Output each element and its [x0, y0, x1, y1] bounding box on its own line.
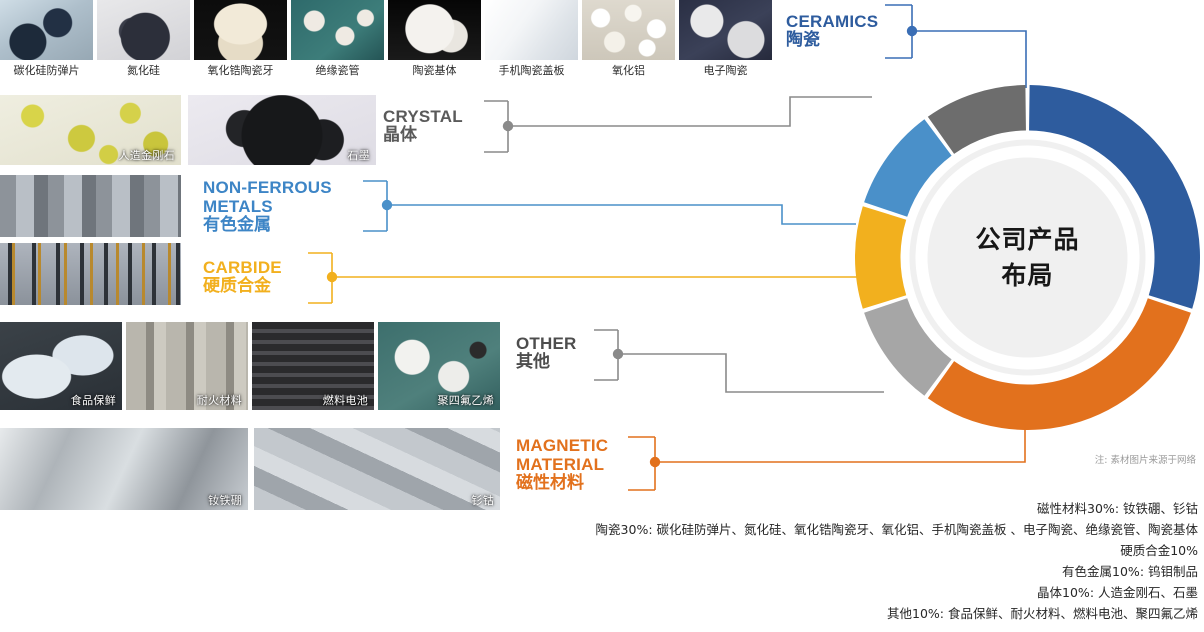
category-label-crystal[interactable]: CRYSTAL 晶体: [383, 107, 463, 145]
tile-caption: 聚四氟乙烯: [438, 394, 495, 407]
tile-caption: 陶瓷基体: [388, 64, 481, 78]
category-cn-other: 其他: [516, 353, 577, 372]
tile-caption: 人造金刚石: [119, 149, 176, 162]
tile-image: 燃料电池: [252, 322, 374, 410]
tile-caption: 石墨: [347, 149, 370, 162]
tile-image: [485, 0, 578, 60]
tile-caption: 氮化硅: [97, 64, 190, 78]
legend-line: 磁性材料30%: 钕铁硼、钐钴: [8, 498, 1198, 519]
donut-center-label: 公司产品 布局: [855, 222, 1200, 294]
tile-image: [0, 243, 181, 305]
product-mix-donut-chart: 公司产品 布局: [855, 85, 1200, 430]
category-cn-crystal: 晶体: [383, 126, 463, 145]
category-en-carbide: CARBIDE: [203, 258, 282, 277]
tile-image: [97, 0, 190, 60]
tile-caption: 碳化硅防弹片: [0, 64, 93, 78]
legend-line: 其他10%: 食品保鲜、耐火材料、燃料电池、聚四氟乙烯: [8, 603, 1198, 624]
source-note: 注: 素材图片来源于网络: [1095, 452, 1196, 466]
tile-image: 石墨: [188, 95, 376, 165]
tile-image: [0, 0, 93, 60]
legend-line: 晶体10%: 人造金刚石、石墨: [8, 582, 1198, 603]
tile-caption: 氧化铝: [582, 64, 675, 78]
tile-image: 食品保鲜: [0, 322, 122, 410]
category-en-other: OTHER: [516, 334, 577, 353]
tile-image: [582, 0, 675, 60]
tile-image: [291, 0, 384, 60]
tile-caption: 绝缘瓷管: [291, 64, 384, 78]
tile-image: [679, 0, 772, 60]
tile-caption: 燃料电池: [323, 394, 368, 407]
legend-list: 磁性材料30%: 钕铁硼、钐钴 陶瓷30%: 碳化硅防弹片、氮化硅、氧化锆陶瓷牙…: [8, 498, 1198, 624]
donut-center-line2: 布局: [855, 258, 1200, 294]
category-label-nonferrous[interactable]: NON-FERROUS METALS 有色金属: [203, 178, 332, 235]
category-label-magnetic[interactable]: MAGNETIC MATERIAL 磁性材料: [516, 436, 608, 493]
tile-caption: 食品保鲜: [71, 394, 116, 407]
tile-caption: 电子陶瓷: [679, 64, 772, 78]
category-cn-magnetic: 磁性材料: [516, 474, 608, 493]
tile-image: 聚四氟乙烯: [378, 322, 500, 410]
tile-caption: 手机陶瓷盖板: [485, 64, 578, 78]
tile-image: [388, 0, 481, 60]
category-en-ceramics: CERAMICS: [786, 12, 878, 31]
category-cn-ceramics: 陶瓷: [786, 31, 878, 50]
category-label-carbide[interactable]: CARBIDE 硬质合金: [203, 258, 282, 296]
category-cn-nonferrous: 有色金属: [203, 216, 332, 235]
category-label-other[interactable]: OTHER 其他: [516, 334, 577, 372]
tile-caption: 氧化锆陶瓷牙: [194, 64, 287, 78]
connector-dot-other: [613, 349, 623, 359]
connector-dot-magnetic: [650, 457, 660, 467]
tile-image: 人造金刚石: [0, 95, 181, 165]
category-en-magnetic-2: MATERIAL: [516, 455, 608, 474]
category-cn-carbide: 硬质合金: [203, 277, 282, 296]
connector-dot-nonferrous: [382, 200, 392, 210]
category-en-nonferrous-1: NON-FERROUS: [203, 178, 332, 197]
category-label-ceramics[interactable]: CERAMICS 陶瓷: [786, 12, 878, 50]
connector-dot-carbide: [327, 272, 337, 282]
tile-image: [0, 175, 181, 237]
legend-line: 有色金属10%: 钨钼制品: [8, 561, 1198, 582]
connector-dot-ceramics: [907, 26, 917, 36]
tile-caption: 耐火材料: [197, 394, 242, 407]
infographic-canvas: 碳化硅防弹片 氮化硅 氧化锆陶瓷牙 绝缘瓷管 陶瓷基体 手机陶瓷盖板 氧化铝 电…: [0, 0, 1204, 632]
tile-image: 耐火材料: [126, 322, 248, 410]
legend-line: 硬质合金10%: [8, 540, 1198, 561]
category-en-crystal: CRYSTAL: [383, 107, 463, 126]
connector-dot-crystal: [503, 121, 513, 131]
category-en-nonferrous-2: METALS: [203, 197, 332, 216]
donut-center-line1: 公司产品: [855, 222, 1200, 258]
tile-image: [194, 0, 287, 60]
category-en-magnetic-1: MAGNETIC: [516, 436, 608, 455]
legend-line: 陶瓷30%: 碳化硅防弹片、氮化硅、氧化锆陶瓷牙、氧化铝、手机陶瓷盖板 、电子陶…: [8, 519, 1198, 540]
